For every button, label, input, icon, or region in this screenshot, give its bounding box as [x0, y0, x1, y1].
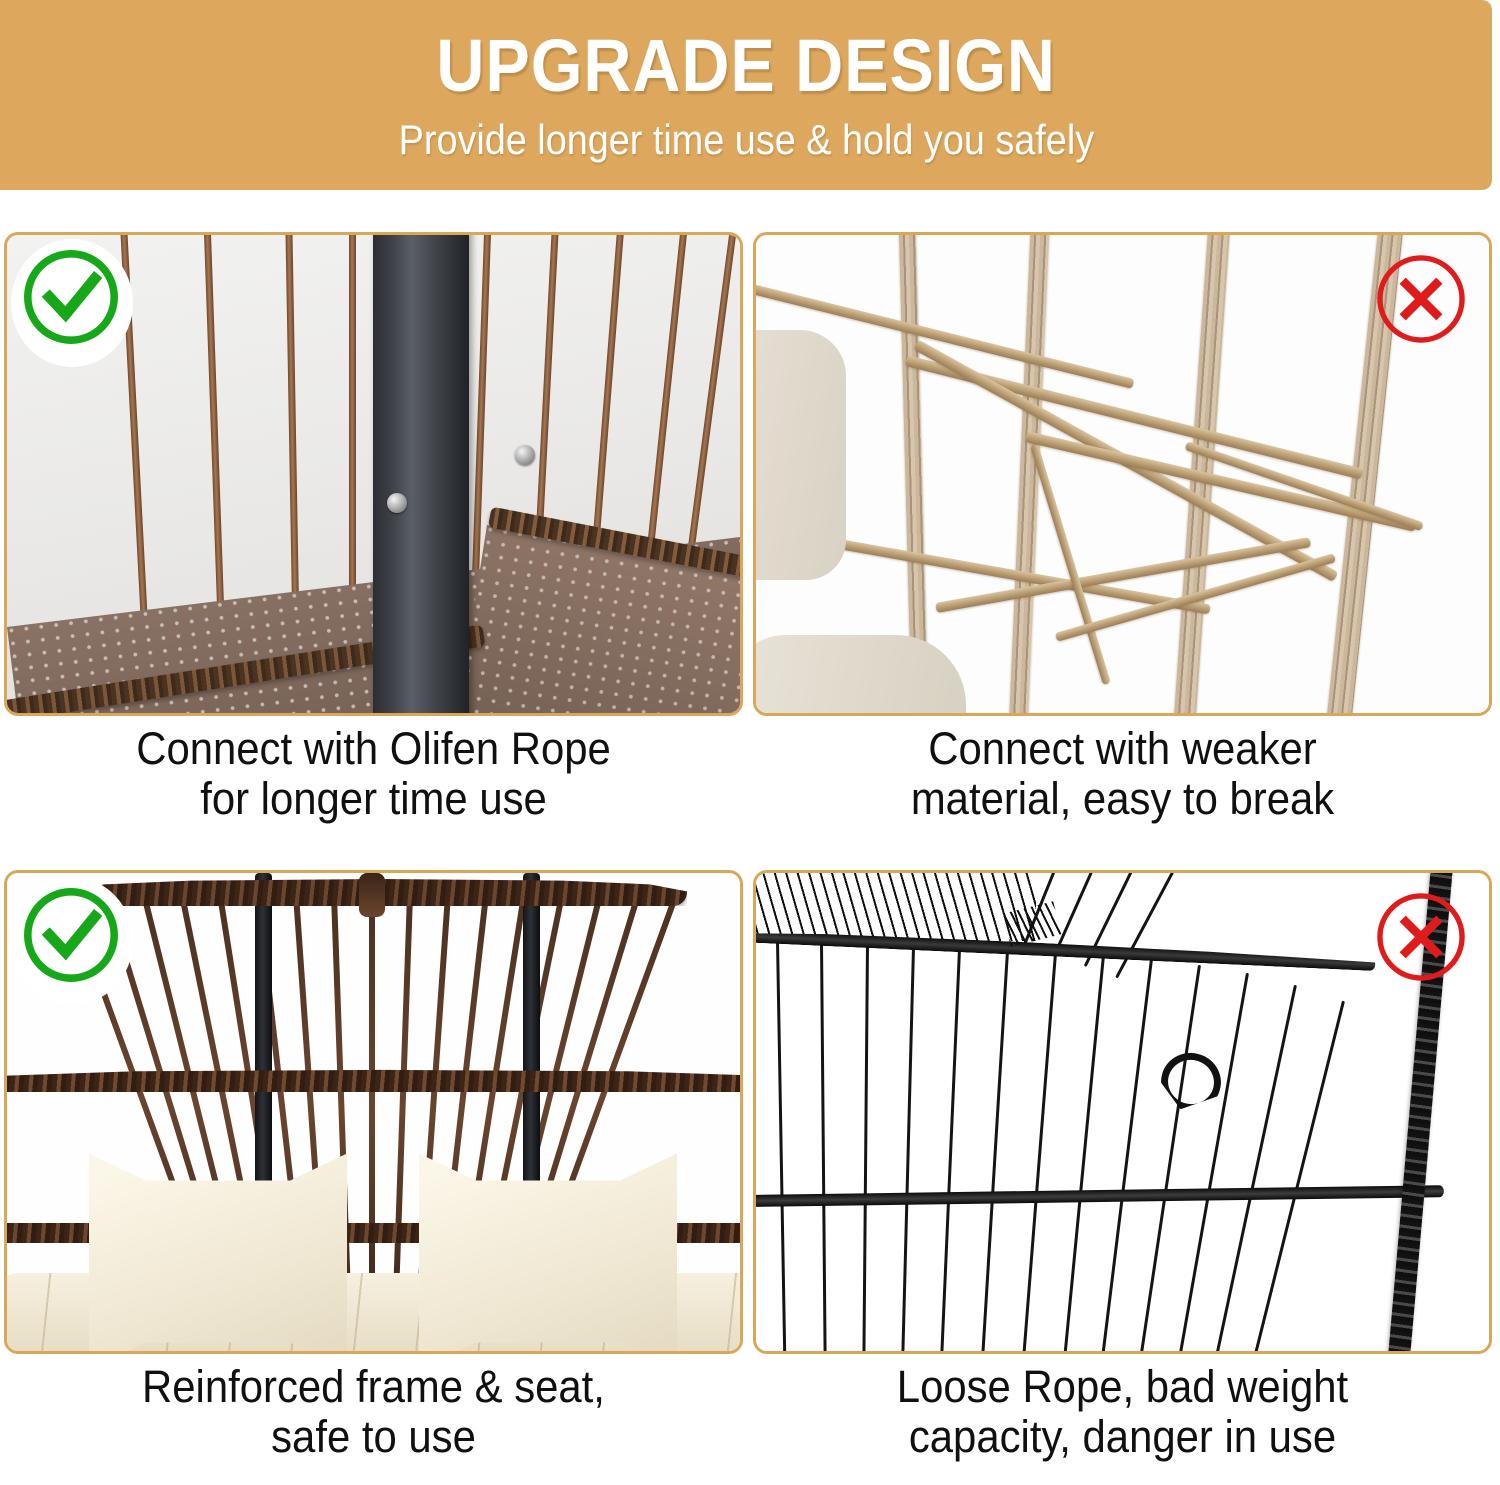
- caption-top-right: Connect with weaker material, easy to br…: [779, 724, 1466, 825]
- caption-line-1: Loose Rope, bad weight: [779, 1362, 1466, 1412]
- caption-line-1: Connect with Olifen Rope: [30, 724, 717, 774]
- cushion-lower: [756, 635, 966, 713]
- screw-icon: [515, 445, 535, 465]
- black-steel-pole: [373, 235, 469, 713]
- comparison-grid: Connect with Olifen Rope for longer time…: [0, 190, 1500, 1485]
- caption-line-1: Connect with weaker: [779, 724, 1466, 774]
- cross-icon: [1367, 245, 1475, 353]
- caption-bottom-left: Reinforced frame & seat, safe to use: [30, 1362, 717, 1463]
- cross-mark-badge: [1367, 883, 1475, 991]
- banner-subtitle: Provide longer time use & hold you safel…: [398, 119, 1093, 161]
- caption-line-2: capacity, danger in use: [779, 1412, 1466, 1462]
- check-icon: [17, 881, 125, 989]
- loose-rope-fan: [756, 873, 1036, 941]
- caption-line-2: for longer time use: [30, 774, 717, 824]
- caption-line-2: material, easy to break: [779, 774, 1466, 824]
- lattice-brace-diagonal: [1030, 444, 1111, 685]
- upgrade-design-banner: UPGRADE DESIGN Provide longer time use &…: [0, 0, 1492, 190]
- loose-band-middle: [756, 1185, 1444, 1207]
- comparison-cell-bottom-left: Reinforced frame & seat, safe to use: [4, 870, 749, 1463]
- screw-icon: [387, 493, 407, 513]
- check-mark-badge: [17, 243, 125, 351]
- check-icon: [17, 243, 125, 351]
- check-mark-badge: [17, 881, 125, 989]
- cushion-upper: [756, 330, 846, 580]
- comparison-cell-top-left: Connect with Olifen Rope for longer time…: [4, 232, 749, 825]
- comparison-cell-bottom-right: Loose Rope, bad weight capacity, danger …: [753, 870, 1498, 1463]
- frame-knot: [359, 873, 385, 917]
- comparison-cell-top-right: Connect with weaker material, easy to br…: [753, 232, 1498, 825]
- caption-line-2: safe to use: [30, 1412, 717, 1462]
- caption-top-left: Connect with Olifen Rope for longer time…: [30, 724, 717, 825]
- loose-band-top: [756, 929, 1376, 971]
- wrapped-band-middle: [7, 1069, 740, 1092]
- banner-title: UPGRADE DESIGN: [436, 29, 1055, 103]
- product-photo-weak-material: [753, 232, 1492, 716]
- product-photo-loose-rope: [753, 870, 1492, 1354]
- loose-rope-hook: [1155, 1047, 1227, 1118]
- caption-line-1: Reinforced frame & seat,: [30, 1362, 717, 1412]
- product-photo-reinforced-frame: [4, 870, 743, 1354]
- caption-bottom-right: Loose Rope, bad weight capacity, danger …: [779, 1362, 1466, 1463]
- cross-mark-badge: [1367, 245, 1475, 353]
- cross-icon: [1367, 883, 1475, 991]
- black-steel-pole: [255, 873, 272, 1203]
- product-photo-olifen-rope: [4, 232, 743, 716]
